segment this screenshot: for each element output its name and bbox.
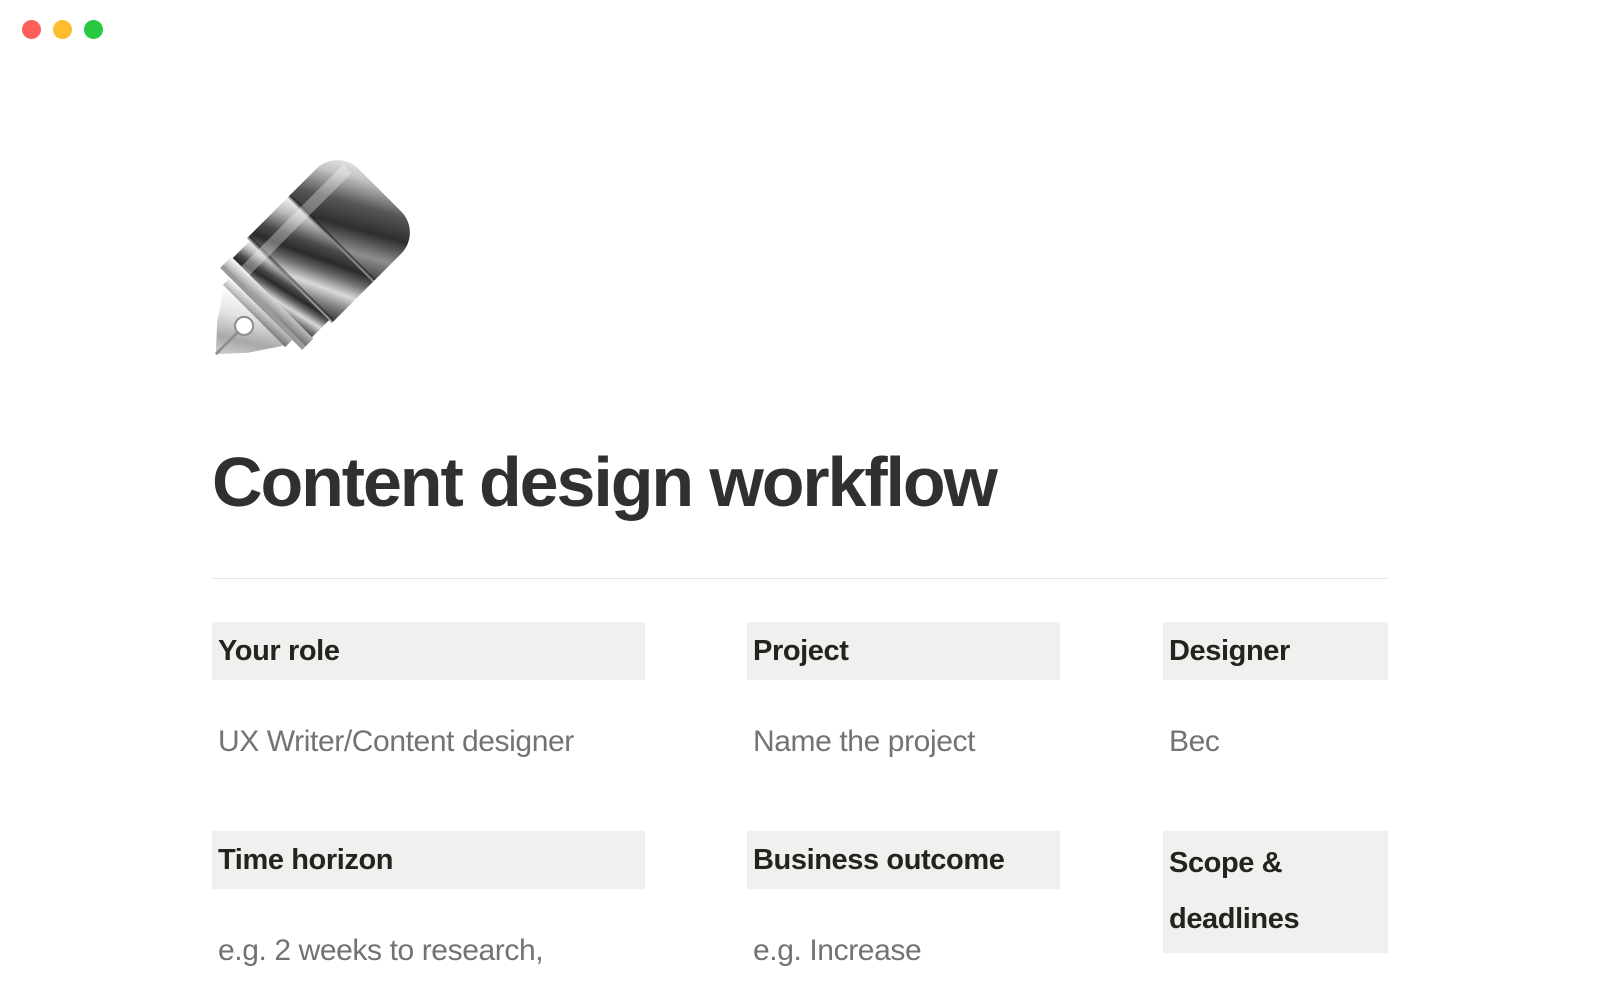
property-row: Time horizon e.g. 2 weeks to research, B… xyxy=(212,831,1388,1000)
app-window: Content design workflow Your role UX Wri… xyxy=(0,0,1600,1000)
property-value-your-role[interactable]: UX Writer/Content designer xyxy=(212,722,645,762)
property-row: Your role UX Writer/Content designer Pro… xyxy=(212,622,1388,831)
property-cell-time-horizon: Time horizon e.g. 2 weeks to research, xyxy=(212,831,645,971)
close-window-button[interactable] xyxy=(22,20,41,39)
property-cell-business-outcome: Business outcome e.g. Increase xyxy=(747,831,1060,971)
header-divider xyxy=(212,578,1388,579)
property-label-business-outcome[interactable]: Business outcome xyxy=(747,831,1060,889)
property-label-project[interactable]: Project xyxy=(747,622,1060,680)
window-titlebar xyxy=(0,0,1600,62)
page-title[interactable]: Content design workflow xyxy=(212,440,996,524)
property-cell-project: Project Name the project xyxy=(747,622,1060,762)
document-page: Content design workflow Your role UX Wri… xyxy=(0,62,1600,1000)
minimize-window-button[interactable] xyxy=(53,20,72,39)
property-label-scope-deadlines[interactable]: Scope & deadlines xyxy=(1163,831,1388,953)
traffic-light-controls xyxy=(22,20,103,39)
property-value-time-horizon[interactable]: e.g. 2 weeks to research, xyxy=(212,931,645,971)
property-value-business-outcome[interactable]: e.g. Increase xyxy=(747,931,1060,971)
property-cell-scope-deadlines: Scope & deadlines xyxy=(1163,831,1388,995)
property-label-your-role[interactable]: Your role xyxy=(212,622,645,680)
property-grid: Your role UX Writer/Content designer Pro… xyxy=(212,622,1388,1000)
property-label-time-horizon[interactable]: Time horizon xyxy=(212,831,645,889)
maximize-window-button[interactable] xyxy=(84,20,103,39)
property-cell-designer: Designer Bec xyxy=(1163,622,1388,762)
property-value-project[interactable]: Name the project xyxy=(747,722,1060,762)
property-cell-your-role: Your role UX Writer/Content designer xyxy=(212,622,645,762)
property-label-designer[interactable]: Designer xyxy=(1163,622,1388,680)
property-value-designer[interactable]: Bec xyxy=(1163,722,1388,762)
fountain-pen-icon[interactable] xyxy=(212,158,412,358)
